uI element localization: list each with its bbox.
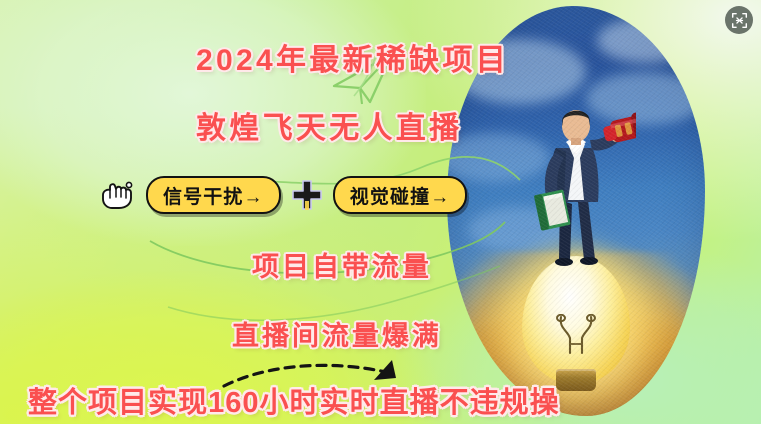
scan-fullscreen-icon [731,12,748,29]
title-line-2: 敦煌飞天无人直播 [196,103,462,147]
title-line-1: 2024年最新稀缺项目 [196,35,509,79]
badge-signal-interference[interactable]: 信号干扰→ [146,176,281,214]
badge-row: 信号干扰→ 视觉碰撞→ [100,176,467,214]
benefit-line-1: 项目自带流量 [252,245,432,284]
pointing-hand-icon [100,180,134,210]
promo-poster: 2024年最新稀缺项目 敦煌飞天无人直播 项目自带流量 直播间流量爆满 整个项目… [0,0,761,424]
footer-line: 整个项目实现160小时实时直播不违规操 [28,379,560,421]
plus-icon [291,179,323,211]
benefit-line-2: 直播间流量爆满 [232,314,442,353]
badge-visual-impact[interactable]: 视觉碰撞→ [333,176,468,214]
scan-fullscreen-button[interactable] [725,6,753,34]
